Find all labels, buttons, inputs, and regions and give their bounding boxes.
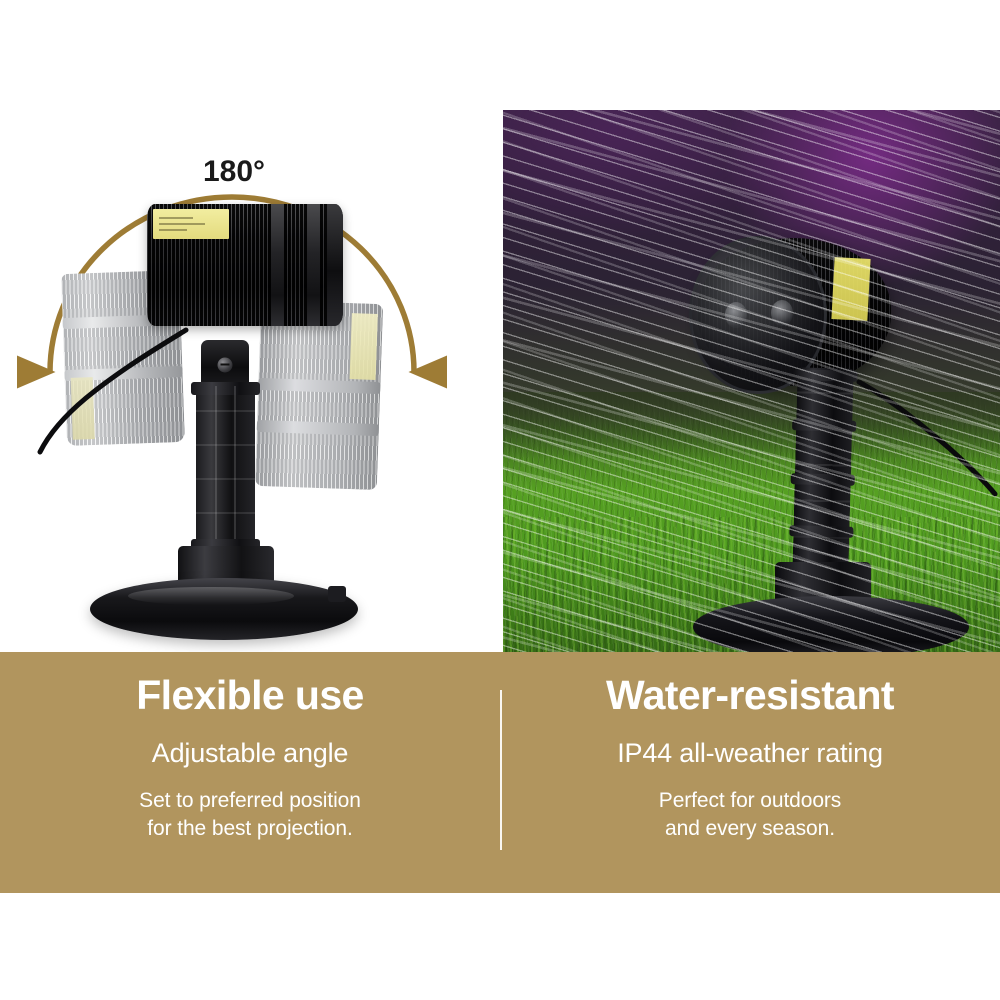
product-feature-image: 180° (0, 0, 1000, 1000)
photo-panels: 180° (0, 0, 1000, 652)
caption-blurb-line: and every season. (659, 815, 841, 843)
column-seam (215, 386, 217, 548)
caption-flexible-use: Flexible use Adjustable angle Set to pre… (0, 652, 500, 893)
rain-streaks-layer-2 (503, 110, 1000, 652)
footer-whitespace (0, 893, 1000, 1000)
lens-cap (327, 204, 343, 326)
sticker-text-line (159, 223, 205, 225)
projector-barrel (147, 204, 343, 326)
caption-headline: Water-resistant (606, 674, 894, 717)
ghost-right-label (350, 313, 378, 380)
ghost-projector-right (255, 300, 383, 490)
projector-assembly (0, 0, 500, 652)
caption-blurb-line: Set to preferred position (139, 787, 361, 815)
base-disc (90, 578, 358, 640)
caption-blurb-line: Perfect for outdoors (659, 787, 841, 815)
caption-subhead: IP44 all-weather rating (617, 739, 883, 769)
ghost-left-label (71, 377, 95, 440)
right-photo-panel (503, 110, 1000, 652)
base-cord-tab (328, 586, 346, 602)
barrel-collar (307, 204, 320, 326)
sticker-text-line (159, 229, 187, 231)
column-flare-top (191, 382, 260, 395)
caption-blurb-line: for the best projection. (139, 815, 361, 843)
caption-headline: Flexible use (136, 674, 364, 717)
caption-subhead: Adjustable angle (152, 739, 348, 769)
stand-column (196, 386, 255, 548)
ghost-right-ring-upper (258, 378, 380, 394)
caption-divider (500, 690, 502, 850)
caption-blurb: Perfect for outdoors and every season. (659, 787, 841, 842)
left-photo-panel: 180° (0, 0, 500, 652)
column-seam (234, 386, 236, 548)
warning-sticker (153, 209, 229, 239)
barrel-collar (271, 204, 284, 326)
base-highlight (128, 587, 294, 606)
caption-blurb: Set to preferred position for the best p… (139, 787, 361, 842)
ghost-right-ring-lower (257, 420, 379, 436)
sticker-text-line (159, 217, 193, 219)
pivot-screw-icon (218, 358, 233, 373)
caption-water-resistant: Water-resistant IP44 all-weather rating … (500, 652, 1000, 893)
